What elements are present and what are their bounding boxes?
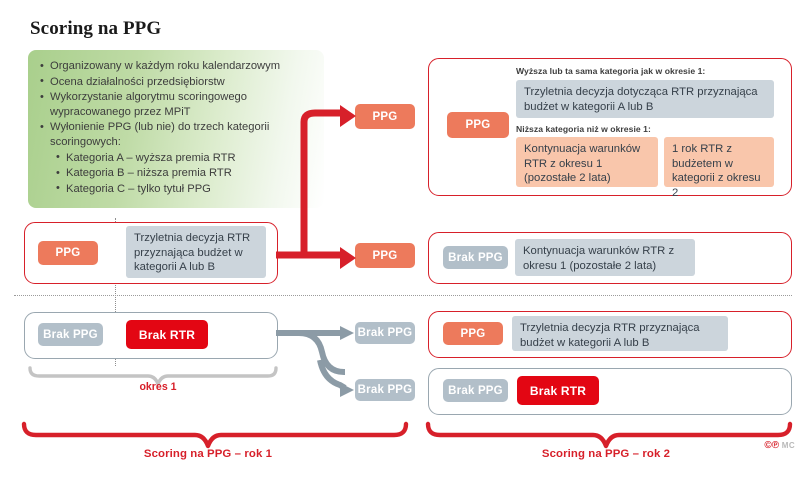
bullet-subitem: Kategoria A – wyższa premia RTR	[40, 151, 314, 166]
red-arrowhead-mid	[340, 247, 356, 269]
credit-initials: MC	[782, 441, 795, 450]
top-right-box-lower-left: Kontynuacja warunków RTR z okresu 1 (poz…	[516, 137, 658, 187]
diagram-canvas: Scoring na PPG Organizowany w każdym rok…	[0, 0, 805, 496]
credit-mark: ©℗ MC	[764, 440, 795, 451]
bullet-item: Wyłonienie PPG (lub nie) do trzech kateg…	[40, 120, 314, 149]
bracket-label-year-2: Scoring na PPG – rok 2	[506, 448, 706, 460]
gray-arrowhead-upper	[340, 326, 354, 340]
bracket-year-1	[24, 424, 406, 446]
node-brak-ppg-lower[interactable]: Brak PPG	[355, 379, 415, 401]
bottom-right-brak-ppg-pill[interactable]: Brak PPG	[443, 379, 508, 402]
bullet-item: Organizowany w każdym roku kalendarzowym	[40, 59, 314, 74]
copyright-icon: ©℗	[764, 440, 779, 451]
bullet-subitem: Kategoria B – niższa premia RTR	[40, 166, 314, 181]
bullet-item: Wykorzystanie algorytmu scoringowego wyp…	[40, 90, 314, 119]
red-arrowhead-top	[340, 105, 356, 127]
mid-left-info-box: Trzyletnia decyzja RTR przyznająca budże…	[126, 226, 266, 278]
top-right-box-higher: Trzyletnia decyzja dotycząca RTR przyzna…	[516, 80, 774, 118]
bottom-left-brak-rtr-pill[interactable]: Brak RTR	[126, 320, 208, 349]
bottom-right-ppg-pill[interactable]: PPG	[443, 322, 503, 345]
node-brak-ppg-upper[interactable]: Brak PPG	[355, 322, 415, 344]
mid-left-ppg-pill[interactable]: PPG	[38, 241, 98, 265]
top-right-ppg-pill[interactable]: PPG	[447, 112, 509, 138]
green-info-panel: Organizowany w każdym roku kalendarzowym…	[28, 50, 324, 208]
top-right-box-lower-right: 1 rok RTR z budżetem w kategorii z okres…	[664, 137, 774, 187]
bottom-left-brak-ppg-pill[interactable]: Brak PPG	[38, 323, 103, 346]
mid-right-info-box: Kontynuacja warunków RTR z okresu 1 (poz…	[515, 239, 695, 276]
okres-label: okres 1	[98, 381, 218, 393]
bottom-right-brak-rtr-pill[interactable]: Brak RTR	[517, 376, 599, 405]
green-panel-bullet-list: Organizowany w każdym roku kalendarzowym…	[28, 50, 324, 196]
bracket-year-2	[428, 424, 790, 446]
top-right-caption-higher: Wyższa lub ta sama kategoria jak w okres…	[516, 66, 776, 76]
gray-arrowhead-lower	[340, 383, 354, 397]
bottom-right-info-box: Trzyletnia decyzja RTR przyznająca budże…	[512, 316, 728, 351]
horizontal-dotted-guide	[14, 295, 792, 296]
node-ppg-top[interactable]: PPG	[355, 104, 415, 129]
page-title: Scoring na PPG	[30, 18, 161, 40]
bullet-item: Ocena działalności przedsiębiorstw	[40, 75, 314, 90]
mid-right-brak-ppg-pill[interactable]: Brak PPG	[443, 246, 508, 269]
node-ppg-middle[interactable]: PPG	[355, 243, 415, 268]
gray-arrow-group	[276, 326, 354, 397]
top-right-caption-lower: Niższa kategoria niż w okresie 1:	[516, 124, 776, 134]
bullet-subitem: Kategoria C – tylko tytuł PPG	[40, 182, 314, 197]
bracket-label-year-1: Scoring na PPG – rok 1	[108, 448, 308, 460]
